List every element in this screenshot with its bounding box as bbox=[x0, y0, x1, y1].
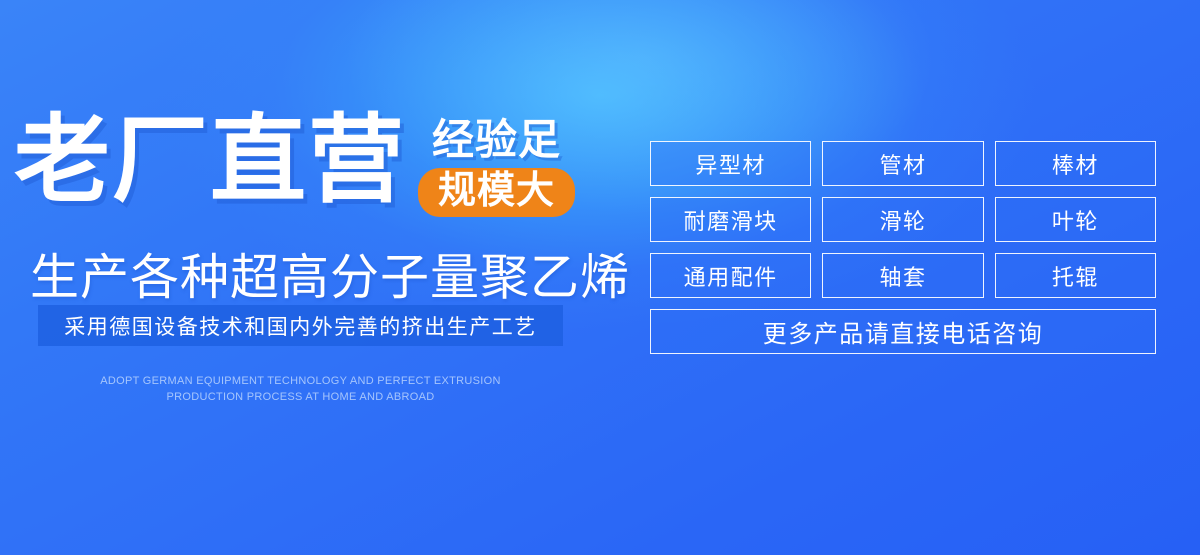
more-products-contact-cell[interactable]: 更多产品请直接电话咨询 bbox=[650, 309, 1156, 354]
product-row-1: 异型材 管材 棒材 bbox=[650, 141, 1156, 186]
product-cell-wear-slider[interactable]: 耐磨滑块 bbox=[650, 197, 811, 242]
tagline-text: 采用德国设备技术和国内外完善的挤出生产工艺 bbox=[64, 311, 537, 341]
product-cell-label: 轴套 bbox=[879, 260, 926, 292]
tagline-bar: 采用德国设备技术和国内外完善的挤出生产工艺 bbox=[38, 305, 563, 346]
product-cell-pipe[interactable]: 管材 bbox=[822, 141, 983, 186]
product-row-3: 通用配件 轴套 托辊 bbox=[650, 253, 1156, 298]
badge-experience-label: 经验足 bbox=[432, 118, 561, 162]
badge-scale-pill: 规模大 bbox=[418, 168, 575, 217]
english-subtitle-line-2: PRODUCTION PROCESS AT HOME AND ABROAD bbox=[38, 390, 563, 406]
product-cell-bushing[interactable]: 轴套 bbox=[822, 253, 983, 298]
headline-row: 老厂直营 经验足 规模大 bbox=[14, 112, 575, 217]
english-subtitle-line-1: ADOPT GERMAN EQUIPMENT TECHNOLOGY AND PE… bbox=[38, 374, 563, 390]
promo-banner: 老厂直营 经验足 规模大 生产各种超高分子量聚乙烯 采用德国设备技术和国内外完善… bbox=[0, 0, 1200, 555]
headline-main-title: 老厂直营 bbox=[14, 112, 406, 208]
product-cell-idler-roller[interactable]: 托辊 bbox=[995, 253, 1156, 298]
product-cell-profile[interactable]: 异型材 bbox=[650, 141, 811, 186]
banner-left-content: 老厂直营 经验足 规模大 生产各种超高分子量聚乙烯 采用德国设备技术和国内外完善… bbox=[0, 0, 620, 555]
product-cell-label: 滑轮 bbox=[879, 204, 926, 236]
product-cell-label: 通用配件 bbox=[684, 260, 778, 292]
product-cell-pulley[interactable]: 滑轮 bbox=[822, 197, 983, 242]
product-cell-impeller[interactable]: 叶轮 bbox=[995, 197, 1156, 242]
subheadline-text: 生产各种超高分子量聚乙烯 bbox=[30, 238, 630, 309]
product-cell-label: 棒材 bbox=[1052, 148, 1099, 180]
product-row-4: 更多产品请直接电话咨询 bbox=[650, 309, 1156, 354]
headline-badge-stack: 经验足 规模大 bbox=[418, 118, 575, 217]
product-cell-general-parts[interactable]: 通用配件 bbox=[650, 253, 811, 298]
product-row-2: 耐磨滑块 滑轮 叶轮 bbox=[650, 197, 1156, 242]
product-cell-label: 耐磨滑块 bbox=[684, 204, 778, 236]
product-cell-label: 叶轮 bbox=[1052, 204, 1099, 236]
more-products-label: 更多产品请直接电话咨询 bbox=[763, 314, 1044, 349]
product-cell-label: 托辊 bbox=[1052, 260, 1099, 292]
english-subtitle-block: ADOPT GERMAN EQUIPMENT TECHNOLOGY AND PE… bbox=[38, 374, 563, 406]
product-cell-label: 异型材 bbox=[695, 148, 766, 180]
product-cell-label: 管材 bbox=[879, 148, 926, 180]
product-cell-rod[interactable]: 棒材 bbox=[995, 141, 1156, 186]
product-category-grid: 异型材 管材 棒材 耐磨滑块 滑轮 叶轮 通用配件 bbox=[650, 141, 1156, 354]
